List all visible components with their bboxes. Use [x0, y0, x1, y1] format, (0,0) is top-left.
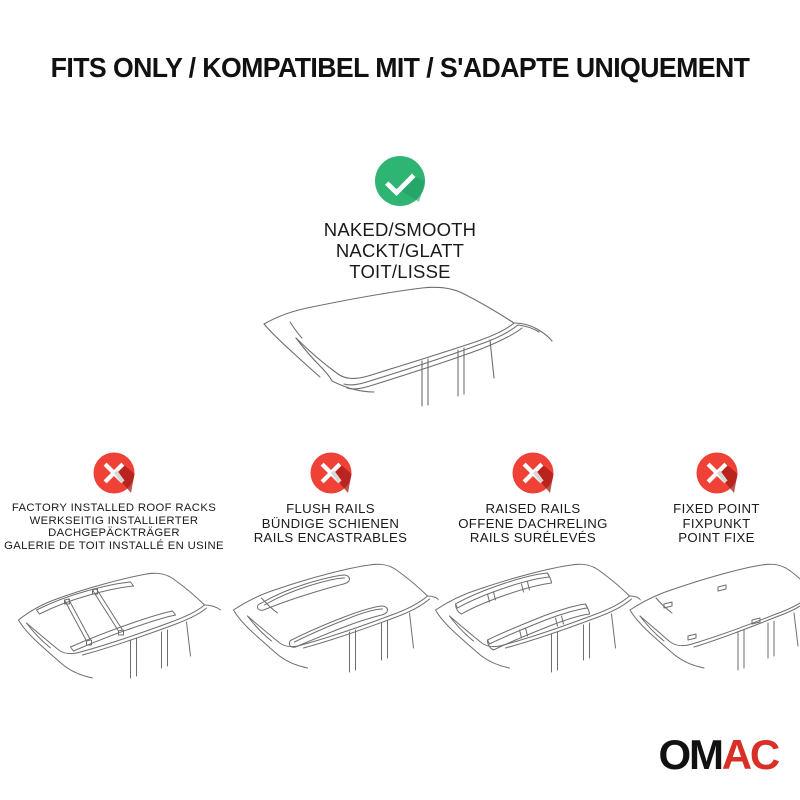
car-roof-flush-rails-illustration [223, 548, 438, 698]
rejected-section-flush-rails: FLUSH RAILS BÜNDIGE SCHIENEN RAILS ENCAS… [228, 452, 433, 702]
approved-labels: NAKED/SMOOTH NACKT/GLATT TOIT/LISSE [324, 219, 476, 282]
x-circle-icon [512, 452, 554, 494]
rejected-label-line: FLUSH RAILS [254, 502, 408, 517]
omac-logo: OMAC [658, 734, 778, 776]
rejected-labels: FIXED POINT FIXPUNKT POINT FIXE [673, 502, 760, 546]
car-roof-fixed-point-illustration [622, 548, 800, 698]
rejected-sections: FACTORY INSTALLED ROOF RACKS WERKSEITIG … [0, 452, 800, 702]
approved-label-line: NAKED/SMOOTH [324, 219, 476, 240]
rejected-label-line: DACHGEPÄCKTRÄGER [4, 527, 224, 540]
car-roof-raised-rails-illustration [426, 548, 641, 698]
rejected-section-factory-rack: FACTORY INSTALLED ROOF RACKS WERKSEITIG … [0, 452, 228, 702]
rejected-section-raised-rails: RAISED RAILS OFFENE DACHRELING RAILS SUR… [433, 452, 633, 702]
x-circle-icon [310, 452, 352, 494]
rejected-label-line: WERKSEITIG INSTALLIERTER [4, 515, 224, 528]
approved-section: NAKED/SMOOTH NACKT/GLATT TOIT/LISSE [0, 155, 800, 282]
rejected-section-fixed-point: FIXED POINT FIXPUNKT POINT FIXE [633, 452, 800, 702]
x-circle-icon [93, 452, 135, 494]
car-roof-factory-rack-illustration [7, 548, 222, 698]
logo-text-dark: OM [658, 731, 721, 778]
check-circle-icon [374, 155, 426, 207]
rejected-labels: RAISED RAILS OFFENE DACHRELING RAILS SUR… [458, 502, 608, 546]
rejected-label-line: FIXPUNKT [673, 517, 760, 532]
car-roof-naked-smooth-illustration [250, 278, 570, 418]
rejected-labels: FLUSH RAILS BÜNDIGE SCHIENEN RAILS ENCAS… [254, 502, 408, 546]
rejected-label-line: POINT FIXE [673, 531, 760, 546]
x-circle-icon [696, 452, 738, 494]
rejected-label-line: RAILS ENCASTRABLES [254, 531, 408, 546]
page-title: FITS ONLY / KOMPATIBEL MIT / S'ADAPTE UN… [12, 52, 788, 84]
rejected-label-line: BÜNDIGE SCHIENEN [254, 517, 408, 532]
approved-label-line: NACKT/GLATT [324, 240, 476, 261]
rejected-label-line: FIXED POINT [673, 502, 760, 517]
rejected-label-line: OFFENE DACHRELING [458, 517, 608, 532]
rejected-label-line: RAILS SURÉLEVÉS [458, 531, 608, 546]
logo-text-red: AC [722, 731, 778, 778]
rejected-label-line: RAISED RAILS [458, 502, 608, 517]
rejected-label-line: FACTORY INSTALLED ROOF RACKS [4, 502, 224, 515]
rejected-labels: FACTORY INSTALLED ROOF RACKS WERKSEITIG … [4, 502, 224, 552]
